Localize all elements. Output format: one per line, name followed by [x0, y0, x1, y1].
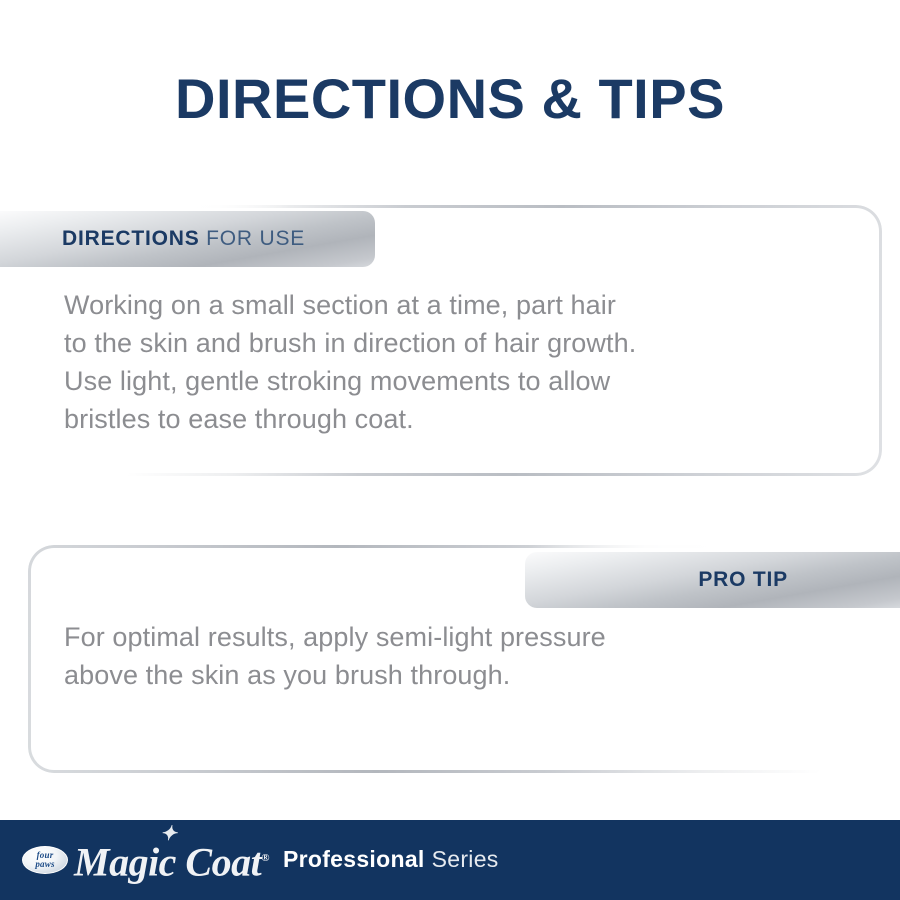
footer-brand-bar: four paws ✦Magic Coat® Professional Seri… — [0, 820, 900, 900]
protip-body-text: For optimal results, apply semi-light pr… — [64, 618, 824, 694]
directions-banner-label: DIRECTIONS FOR USE — [62, 227, 305, 251]
directions-and-tips-page: DIRECTIONS & TIPS DIRECTIONS FOR USE Wor… — [0, 0, 900, 900]
sparkle-star-icon: ✦ — [160, 824, 176, 844]
directions-banner-strong: DIRECTIONS — [62, 227, 200, 250]
page-title: DIRECTIONS & TIPS — [0, 68, 900, 130]
protip-banner-strong: PRO TIP — [698, 568, 788, 591]
professional-label: Professional — [283, 846, 425, 873]
directions-banner-light: FOR USE — [200, 227, 306, 250]
four-paws-oval-logo-icon: four paws — [22, 846, 68, 874]
protip-banner: PRO TIP — [525, 552, 900, 608]
registered-trademark-icon: ® — [261, 852, 269, 864]
directions-banner: DIRECTIONS FOR USE — [0, 211, 375, 267]
four-paws-line-2: paws — [35, 860, 54, 869]
magic-coat-text: Magic Coat — [74, 839, 261, 884]
footer-logo-lockup: four paws ✦Magic Coat® Professional Seri… — [22, 838, 499, 882]
protip-banner-label: PRO TIP — [698, 568, 788, 592]
magic-coat-wordmark: ✦Magic Coat® — [74, 838, 269, 882]
directions-body-text: Working on a small section at a time, pa… — [64, 286, 854, 438]
series-label: Series — [432, 846, 499, 873]
